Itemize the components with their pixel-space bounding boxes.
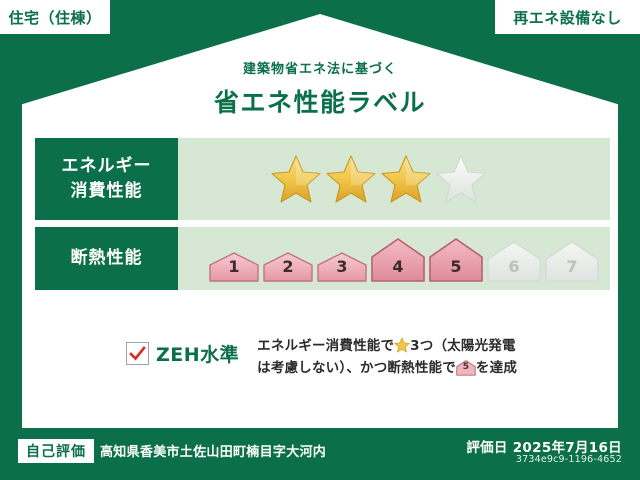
zeh-desc-part3: は考慮しない）、かつ断熱性能で [257, 360, 456, 376]
insulation-level-1: 1 [208, 243, 260, 283]
title-subtitle: 建築物省エネ法に基づく [0, 58, 640, 77]
energy-label-page: 住宅（住棟） 再エネ設備なし 建築物省エネ法に基づく 省エネ性能ラベル エネルギ… [0, 0, 640, 480]
zeh-description: エネルギー消費性能で3つ（太陽光発電 は考慮しない）、かつ断熱性能で5を達成 [257, 336, 517, 380]
star-icon-empty-4 [435, 153, 487, 205]
row-energy-body [178, 138, 610, 220]
insulation-level-3: 3 [316, 243, 368, 283]
insulation-level-1-number: 1 [208, 257, 260, 276]
row-energy-label: エネルギー 消費性能 [35, 138, 178, 220]
star-rating [270, 153, 487, 205]
insulation-level-3-number: 3 [316, 257, 368, 276]
zeh-desc-part1: エネルギー消費性能で [257, 338, 394, 354]
check-icon [129, 346, 146, 361]
self-evaluation-badge: 自己評価 [18, 439, 94, 463]
insulation-level-2: 2 [262, 243, 314, 283]
label-title-block: 建築物省エネ法に基づく 省エネ性能ラベル [0, 58, 640, 119]
insulation-level-6-number: 6 [486, 257, 542, 276]
insulation-level-4: 4 [370, 235, 426, 283]
zeh-checkbox[interactable] [126, 342, 149, 365]
label-footer: 自己評価 高知県香美市土佐山田町楠目字大河内 評価日 2025年7月16日 37… [0, 428, 640, 480]
zeh-desc-part4: を達成 [476, 360, 517, 376]
inline-house-number: 5 [456, 360, 476, 375]
insulation-level-6: 6 [486, 237, 542, 283]
inline-star-icon [394, 337, 410, 353]
row-energy-label-line2: 消費性能 [71, 179, 143, 204]
insulation-level-7-number: 7 [544, 257, 600, 276]
row-insulation-performance: 断熱性能 1 [35, 227, 610, 290]
star-icon-filled-2 [325, 153, 377, 205]
property-address: 高知県香美市土佐山田町楠目字大河内 [100, 441, 326, 460]
insulation-level-5-number: 5 [428, 257, 484, 276]
row-insulation-body: 1 2 3 [178, 227, 610, 290]
row-energy-performance: エネルギー 消費性能 [35, 138, 610, 220]
row-insulation-label: 断熱性能 [35, 227, 178, 290]
insulation-scale: 1 2 3 [208, 235, 600, 283]
evaluation-date-label: 評価日 [466, 440, 507, 456]
zeh-desc-part2: 3つ（太陽光発電 [410, 338, 516, 354]
zeh-block: ZEH水準 エネルギー消費性能で3つ（太陽光発電 は考慮しない）、かつ断熱性能で… [126, 336, 517, 380]
insulation-level-4-number: 4 [370, 257, 426, 276]
evaluation-date: 評価日 2025年7月16日 [466, 436, 622, 456]
insulation-level-5: 5 [428, 235, 484, 283]
row-energy-label-line1: エネルギー [62, 154, 152, 179]
renewable-energy-tag: 再エネ設備なし [495, 0, 640, 34]
star-icon-filled-1 [270, 153, 322, 205]
building-type-tag: 住宅（住棟） [0, 0, 110, 34]
zeh-title: ZEH水準 [156, 340, 239, 367]
insulation-level-2-number: 2 [262, 257, 314, 276]
insulation-level-7: 7 [544, 237, 600, 283]
star-icon-filled-3 [380, 153, 432, 205]
rating-rows: エネルギー 消費性能 [35, 138, 610, 290]
evaluation-id: 3734e9c9-1196-4652 [516, 454, 622, 465]
row-insulation-label-line1: 断熱性能 [71, 246, 143, 271]
inline-house-badge: 5 [456, 359, 476, 376]
title-main: 省エネ性能ラベル [0, 83, 640, 119]
